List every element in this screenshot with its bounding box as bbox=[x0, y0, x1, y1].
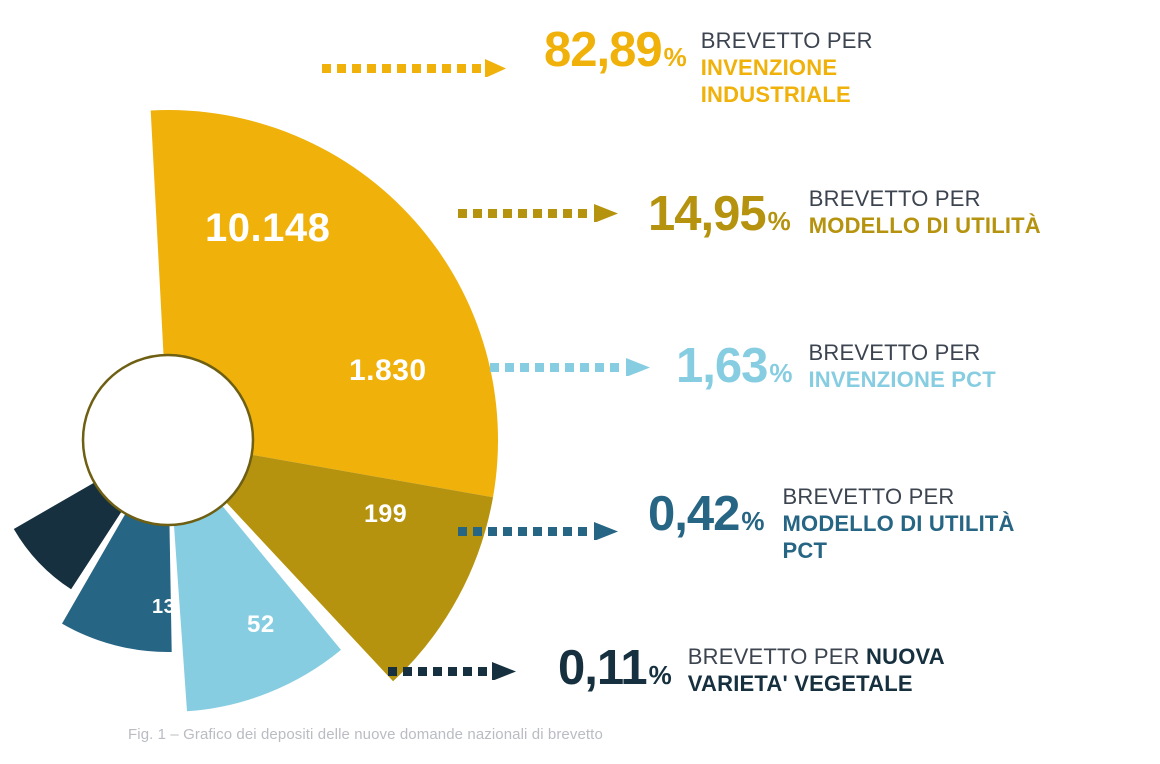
legend-row-modello-di-utilita-pct[interactable]: 0,42% BREVETTO PER MODELLO DI UTILITÀ PC… bbox=[458, 484, 1015, 564]
legend-line-2: NUOVA bbox=[866, 644, 945, 669]
dotted-arrow-right-icon bbox=[490, 358, 650, 376]
percent-value: 14,95 bbox=[648, 190, 766, 239]
percent-value: 1,63 bbox=[676, 342, 767, 391]
dotted-arrow-right-icon bbox=[458, 522, 618, 540]
legend-line-2: MODELLO DI UTILITÀ bbox=[809, 213, 1041, 240]
percent-symbol: % bbox=[741, 508, 764, 534]
legend-row-invenzione-pct[interactable]: 1,63% BREVETTO PER INVENZIONE PCT bbox=[490, 340, 996, 394]
legend-line-1: BREVETTO PER bbox=[809, 186, 1041, 213]
percent-symbol: % bbox=[768, 208, 791, 234]
legend-percent-modello-di-utilita-pct: 0,42% bbox=[648, 490, 765, 539]
legend-label-invenzione-industriale: BREVETTO PER INVENZIONE INDUSTRIALE bbox=[701, 28, 873, 108]
figure-caption: Fig. 1 – Grafico dei depositi delle nuov… bbox=[128, 726, 603, 743]
legend-label-modello-di-utilita: BREVETTO PER MODELLO DI UTILITÀ bbox=[809, 186, 1041, 240]
legend-row-modello-di-utilita[interactable]: 14,95% BREVETTO PER MODELLO DI UTILITÀ bbox=[458, 186, 1041, 240]
legend-percent-nuova-varieta-vegetale: 0,11% bbox=[558, 644, 672, 693]
legend-line-2: INVENZIONE bbox=[701, 55, 873, 82]
legend-label-invenzione-pct: BREVETTO PER INVENZIONE PCT bbox=[809, 340, 996, 394]
legend-row-invenzione-industriale[interactable]: 82,89% BREVETTO PER INVENZIONE INDUSTRIA… bbox=[322, 28, 873, 108]
legend-line-1-wrap: BREVETTO PER NUOVA bbox=[688, 644, 945, 671]
dotted-arrow-right-icon bbox=[322, 59, 506, 77]
infographic-canvas: 10.148 1.830 199 52 13 82,89% BREVETTO P… bbox=[0, 0, 1160, 764]
legend-line-3: PCT bbox=[783, 538, 1015, 565]
percent-symbol: % bbox=[664, 44, 687, 70]
legend-line-2: INVENZIONE PCT bbox=[809, 367, 996, 394]
legend-percent-invenzione-industriale: 82,89% bbox=[544, 26, 687, 75]
legend-line-3: VARIETA' VEGETALE bbox=[688, 671, 945, 698]
legend-line-1: BREVETTO PER bbox=[783, 484, 1015, 511]
percent-value: 82,89 bbox=[544, 26, 662, 75]
percent-value: 0,11 bbox=[558, 644, 647, 693]
legend-line-1: BREVETTO PER bbox=[809, 340, 996, 367]
legend-row-nuova-varieta-vegetale[interactable]: 0,11% BREVETTO PER NUOVA VARIETA' VEGETA… bbox=[388, 644, 945, 698]
legend-line-2: MODELLO DI UTILITÀ bbox=[783, 511, 1015, 538]
dotted-arrow-right-icon bbox=[388, 662, 516, 680]
legend-percent-modello-di-utilita: 14,95% bbox=[648, 190, 791, 239]
legend-label-nuova-varieta-vegetale: BREVETTO PER NUOVA VARIETA' VEGETALE bbox=[688, 644, 945, 698]
percent-value: 0,42 bbox=[648, 490, 739, 539]
center-hub bbox=[83, 355, 253, 525]
dotted-arrow-right-icon bbox=[458, 204, 618, 222]
legend-line-3: INDUSTRIALE bbox=[701, 82, 873, 109]
percent-symbol: % bbox=[769, 360, 792, 386]
legend-label-modello-di-utilita-pct: BREVETTO PER MODELLO DI UTILITÀ PCT bbox=[783, 484, 1015, 564]
legend-line-1: BREVETTO PER bbox=[688, 644, 866, 669]
percent-symbol: % bbox=[649, 662, 672, 688]
legend-line-1: BREVETTO PER bbox=[701, 28, 873, 55]
legend-percent-invenzione-pct: 1,63% bbox=[676, 342, 793, 391]
